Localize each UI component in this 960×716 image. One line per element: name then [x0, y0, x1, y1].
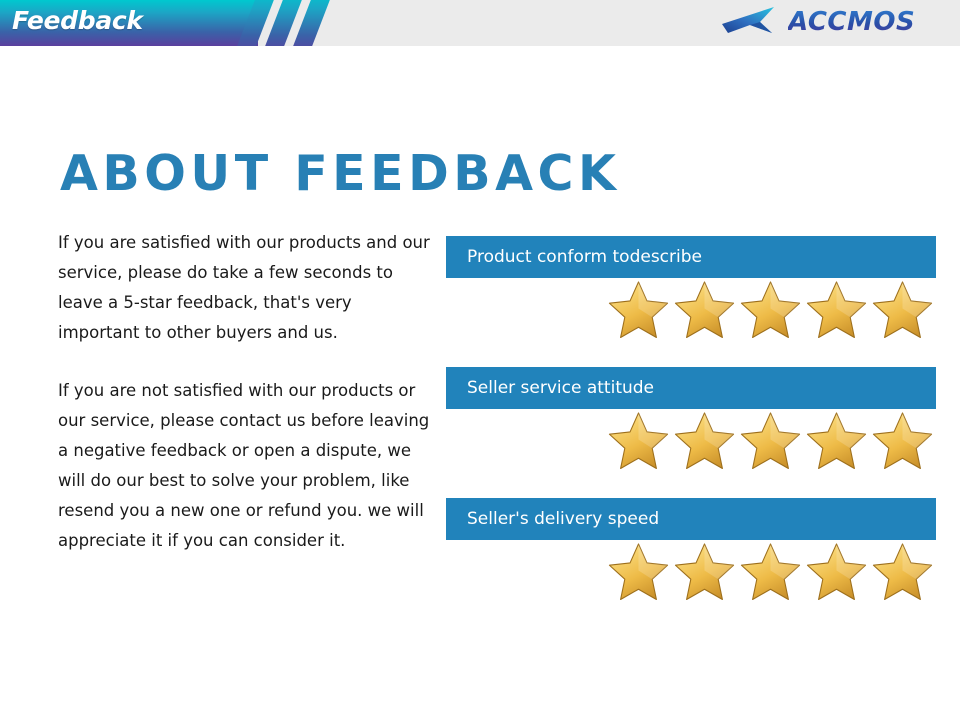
star-row-seller-service[interactable] — [446, 409, 936, 477]
star-icon — [805, 541, 868, 608]
rating-group-delivery-speed: Seller's delivery speed — [446, 498, 936, 608]
page-header: Feedback — [0, 0, 960, 46]
star-icon — [871, 541, 934, 608]
star-icon — [673, 541, 736, 608]
star-icon — [739, 541, 802, 608]
rating-group-seller-service: Seller service attitude — [446, 367, 936, 477]
rating-label-product-conform: Product conform todescribe — [467, 247, 702, 267]
star-icon — [871, 279, 934, 346]
rating-bar-delivery-speed: Seller's delivery speed — [446, 498, 936, 540]
paragraph-not-satisfied: If you are not satisfied with our produc… — [58, 376, 433, 556]
star-icon — [739, 279, 802, 346]
page-title: ABOUT FEEDBACK — [60, 145, 621, 202]
star-icon — [739, 410, 802, 477]
star-row-product-conform[interactable] — [446, 278, 936, 346]
rating-list: Product conform todescribe Seller servic… — [446, 236, 936, 608]
star-icon — [673, 410, 736, 477]
star-icon — [673, 279, 736, 346]
brand-logo-text: ACCMOS — [788, 6, 944, 40]
rating-group-product-conform: Product conform todescribe — [446, 236, 936, 346]
rating-bar-seller-service: Seller service attitude — [446, 367, 936, 409]
svg-text:ACCMOS: ACCMOS — [788, 7, 915, 36]
accmos-arrow-icon — [720, 6, 782, 40]
star-icon — [607, 410, 670, 477]
star-row-delivery-speed[interactable] — [446, 540, 936, 608]
star-icon — [607, 279, 670, 346]
rating-bar-product-conform: Product conform todescribe — [446, 236, 936, 278]
feedback-description: If you are satisfied with our products a… — [58, 228, 433, 556]
star-icon — [607, 541, 670, 608]
rating-label-seller-service: Seller service attitude — [467, 378, 654, 398]
brand-logo: ACCMOS — [720, 5, 944, 41]
star-icon — [805, 279, 868, 346]
rating-label-delivery-speed: Seller's delivery speed — [467, 509, 659, 529]
paragraph-satisfied: If you are satisfied with our products a… — [58, 228, 433, 348]
star-icon — [871, 410, 934, 477]
star-icon — [805, 410, 868, 477]
header-title: Feedback — [12, 6, 143, 35]
